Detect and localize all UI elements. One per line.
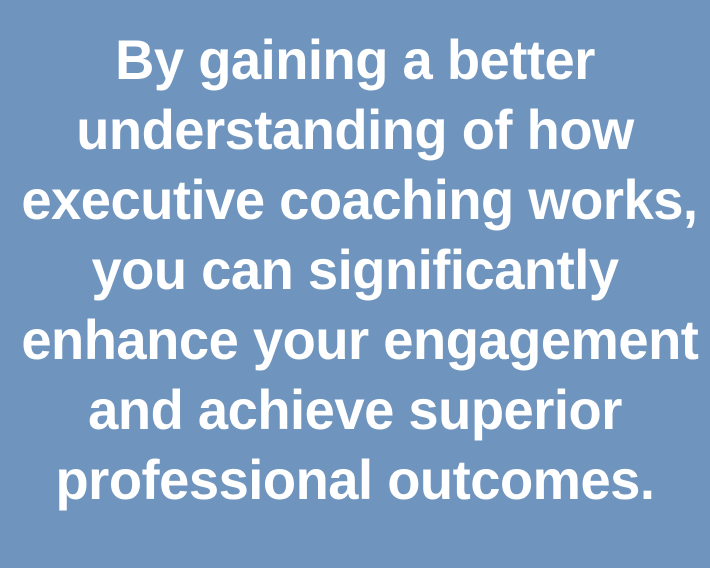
quote-line: understanding of how — [21, 95, 688, 165]
quote-line: professional outcomes. — [21, 445, 688, 515]
quote-line: you can significantly — [21, 235, 688, 305]
quote-text-block: By gaining a better understanding of how… — [5, 25, 705, 515]
quote-line: executive coaching works, — [21, 165, 688, 235]
quote-card: By gaining a better understanding of how… — [0, 0, 710, 568]
quote-line: enhance your engagement — [21, 305, 688, 375]
quote-line: By gaining a better — [21, 25, 688, 95]
quote-line: and achieve superior — [21, 375, 688, 445]
